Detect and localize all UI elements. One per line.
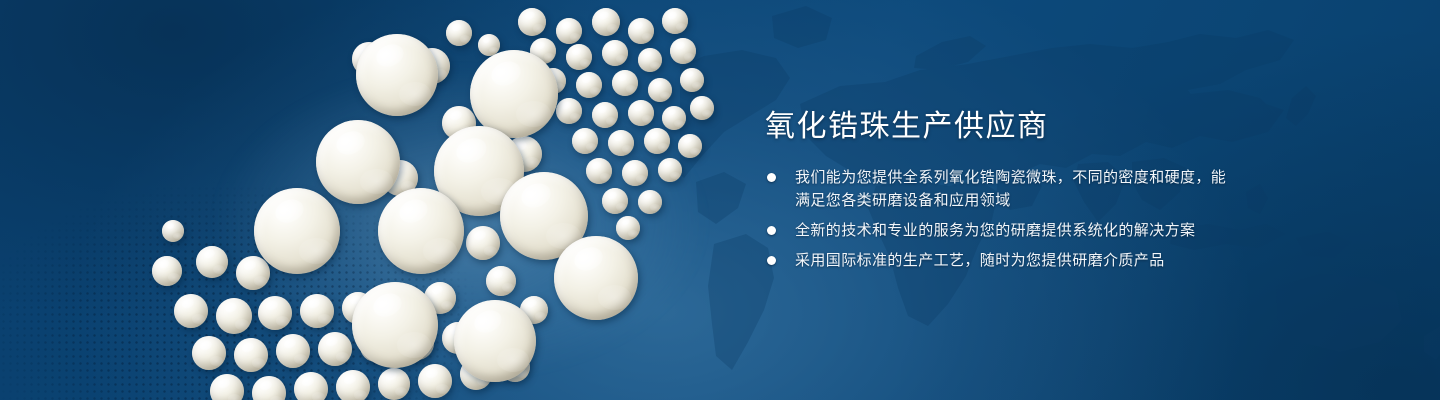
list-item-label: 全新的技术和专业的服务为您的研磨提供系统化的解决方案 bbox=[795, 222, 1195, 239]
bead bbox=[658, 158, 682, 182]
bead-large bbox=[352, 282, 438, 368]
hero-banner: 氧化锆珠生产供应商 我们能为您提供全系列氧化锆陶瓷微珠，不同的密度和硬度，能满足… bbox=[0, 0, 1440, 400]
bead bbox=[628, 18, 654, 44]
list-item: 采用国际标准的生产工艺，随时为您提供研磨介质产品 bbox=[763, 249, 1233, 272]
bead bbox=[518, 8, 546, 36]
bead bbox=[680, 68, 704, 92]
bead bbox=[234, 338, 268, 372]
bead bbox=[648, 78, 672, 102]
bead bbox=[572, 128, 598, 154]
bead bbox=[602, 188, 628, 214]
bead bbox=[678, 134, 702, 158]
bead bbox=[162, 220, 184, 242]
bead bbox=[628, 100, 654, 126]
bead-large bbox=[356, 34, 438, 116]
bead bbox=[556, 98, 582, 124]
bullet-dot-icon bbox=[767, 256, 776, 265]
bead bbox=[616, 216, 640, 240]
bullet-dot-icon bbox=[767, 226, 776, 235]
bead bbox=[690, 96, 714, 120]
bead bbox=[418, 364, 452, 398]
bead bbox=[466, 226, 500, 260]
bead bbox=[662, 8, 688, 34]
bead bbox=[258, 296, 292, 330]
bead bbox=[566, 44, 592, 70]
bead bbox=[210, 374, 244, 400]
bead bbox=[300, 294, 334, 328]
feature-list: 我们能为您提供全系列氧化锆陶瓷微珠，不同的密度和硬度，能满足您各类研磨设备和应用… bbox=[763, 166, 1233, 279]
bullet-dot-icon bbox=[767, 173, 776, 182]
bead bbox=[612, 70, 638, 96]
bead bbox=[576, 72, 602, 98]
bead-large bbox=[470, 50, 558, 138]
bead bbox=[638, 190, 662, 214]
list-item: 全新的技术和专业的服务为您的研磨提供系统化的解决方案 bbox=[763, 219, 1233, 242]
list-item: 我们能为您提供全系列氧化锆陶瓷微珠，不同的密度和硬度，能满足您各类研磨设备和应用… bbox=[763, 166, 1233, 212]
bead bbox=[602, 40, 628, 66]
bead-large bbox=[254, 188, 340, 274]
bead bbox=[318, 332, 352, 366]
bead bbox=[608, 130, 634, 156]
bead bbox=[486, 266, 516, 296]
bead-large bbox=[316, 120, 400, 204]
bead bbox=[174, 294, 208, 328]
bead bbox=[622, 160, 648, 186]
bead-large bbox=[454, 300, 536, 382]
bead bbox=[638, 48, 662, 72]
bead bbox=[556, 18, 582, 44]
bead bbox=[252, 376, 286, 400]
bead bbox=[446, 20, 472, 46]
bead bbox=[586, 158, 612, 184]
bead bbox=[152, 256, 182, 286]
list-item-label: 我们能为您提供全系列氧化锆陶瓷微珠，不同的密度和硬度，能满足您各类研磨设备和应用… bbox=[795, 169, 1226, 209]
bead bbox=[276, 334, 310, 368]
bead bbox=[216, 298, 252, 334]
bead bbox=[196, 246, 228, 278]
bead bbox=[592, 8, 620, 36]
bead bbox=[236, 256, 270, 290]
bead bbox=[644, 128, 670, 154]
page-title: 氧化锆珠生产供应商 bbox=[765, 108, 1049, 146]
bead bbox=[670, 38, 696, 64]
bead-large bbox=[554, 236, 638, 320]
bead bbox=[592, 102, 618, 128]
zirconia-bead-cluster bbox=[0, 0, 760, 400]
bead bbox=[192, 336, 226, 370]
list-item-label: 采用国际标准的生产工艺，随时为您提供研磨介质产品 bbox=[795, 252, 1165, 269]
bead bbox=[294, 372, 328, 400]
bead bbox=[378, 368, 410, 400]
bead-large bbox=[378, 188, 464, 274]
bead bbox=[662, 106, 686, 130]
bead bbox=[336, 370, 370, 400]
banner-content: 氧化锆珠生产供应商 我们能为您提供全系列氧化锆陶瓷微珠，不同的密度和硬度，能满足… bbox=[763, 0, 1233, 400]
